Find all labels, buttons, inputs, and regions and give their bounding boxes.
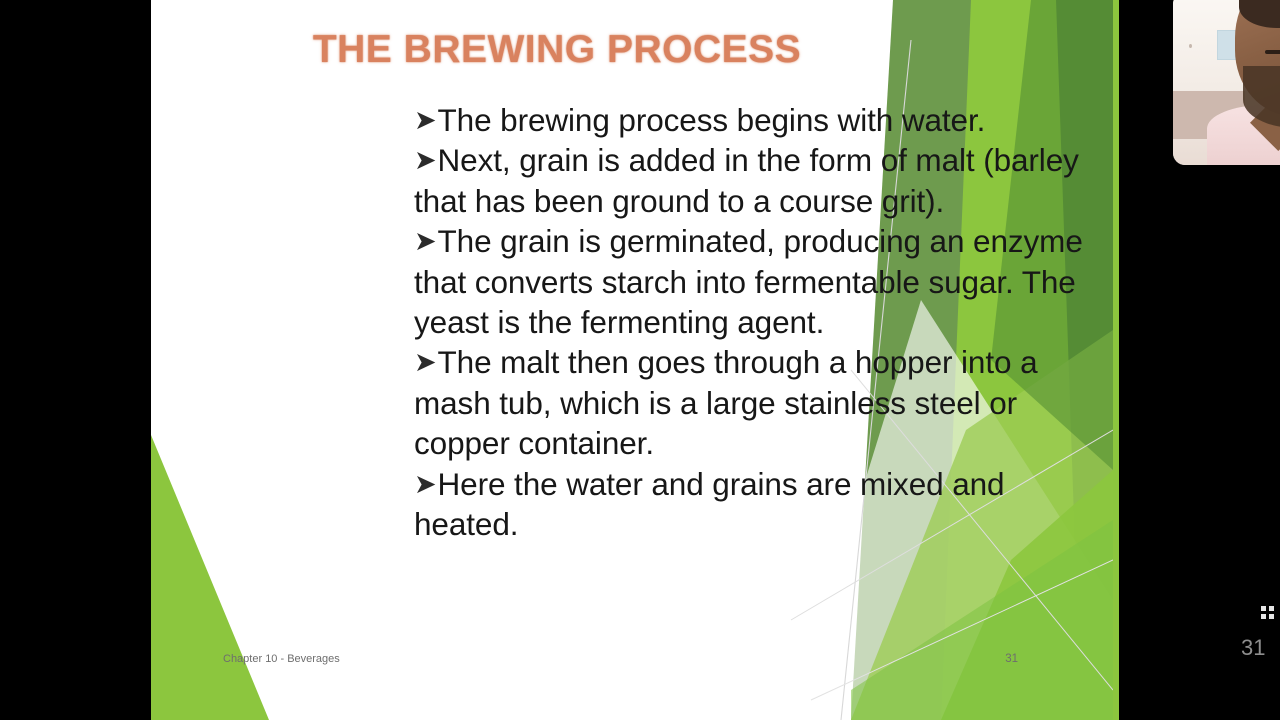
slide-title: THE BREWING PROCESS — [151, 28, 1113, 72]
grid-view-icon[interactable] — [1261, 606, 1274, 619]
bullet-arrow-icon: ➤ — [414, 105, 438, 136]
slide-bullet-3: ➤The grain is germinated, producing an e… — [414, 221, 1113, 342]
wall-speck — [1189, 44, 1192, 48]
slide-bullet-1: ➤The brewing process begins with water. — [414, 100, 1113, 140]
slide-bullet-5-text: Here the water and grains are mixed and … — [414, 466, 1004, 542]
slide-accent-edge — [1113, 0, 1119, 720]
screen-share-window: THE BREWING PROCESS ➤The brewing process… — [0, 0, 1280, 720]
slide-bullet-4-text: The malt then goes through a hopper into… — [414, 344, 1038, 461]
panel-item-participants-label: S — [1241, 241, 1280, 259]
person-eye-left — [1265, 50, 1280, 54]
slide-bullet-2-text: Next, grain is added in the form of malt… — [414, 142, 1079, 218]
bullet-arrow-icon: ➤ — [414, 347, 438, 378]
bullet-arrow-icon: ➤ — [414, 145, 438, 176]
slide-bullet-5: ➤Here the water and grains are mixed and… — [414, 464, 1113, 545]
participants-icon — [1241, 215, 1280, 234]
self-view-video-thumbnail[interactable] — [1173, 0, 1280, 165]
panel-page-number: 31 — [1241, 635, 1280, 661]
slide-footer: Chapter 10 - Beverages 31 — [223, 653, 1018, 665]
bullet-arrow-icon: ➤ — [414, 469, 438, 500]
slide-footer-page-number: 31 — [1005, 653, 1018, 665]
panel-item-participants[interactable]: S — [1241, 215, 1280, 259]
slide-footer-chapter: Chapter 10 - Beverages — [223, 653, 340, 665]
slide-bullet-3-text: The grain is germinated, producing an en… — [414, 223, 1083, 340]
slide-bullet-1-text: The brewing process begins with water. — [438, 102, 986, 138]
slide-body-text: ➤The brewing process begins with water. … — [414, 100, 1113, 544]
panel-item-chat[interactable]: C — [1249, 500, 1280, 518]
panel-item-share-screen[interactable]: Sh — [1241, 355, 1280, 373]
bullet-arrow-icon: ➤ — [414, 226, 438, 257]
presentation-slide[interactable]: THE BREWING PROCESS ➤The brewing process… — [151, 0, 1113, 720]
slide-bullet-4: ➤The malt then goes through a hopper int… — [414, 342, 1113, 463]
meeting-side-panel[interactable]: S Sh C 31 — [1113, 0, 1280, 720]
slide-bullet-2: ➤Next, grain is added in the form of mal… — [414, 140, 1113, 221]
panel-item-share-screen-label: Sh — [1241, 355, 1280, 373]
panel-item-chat-label: C — [1249, 500, 1280, 518]
